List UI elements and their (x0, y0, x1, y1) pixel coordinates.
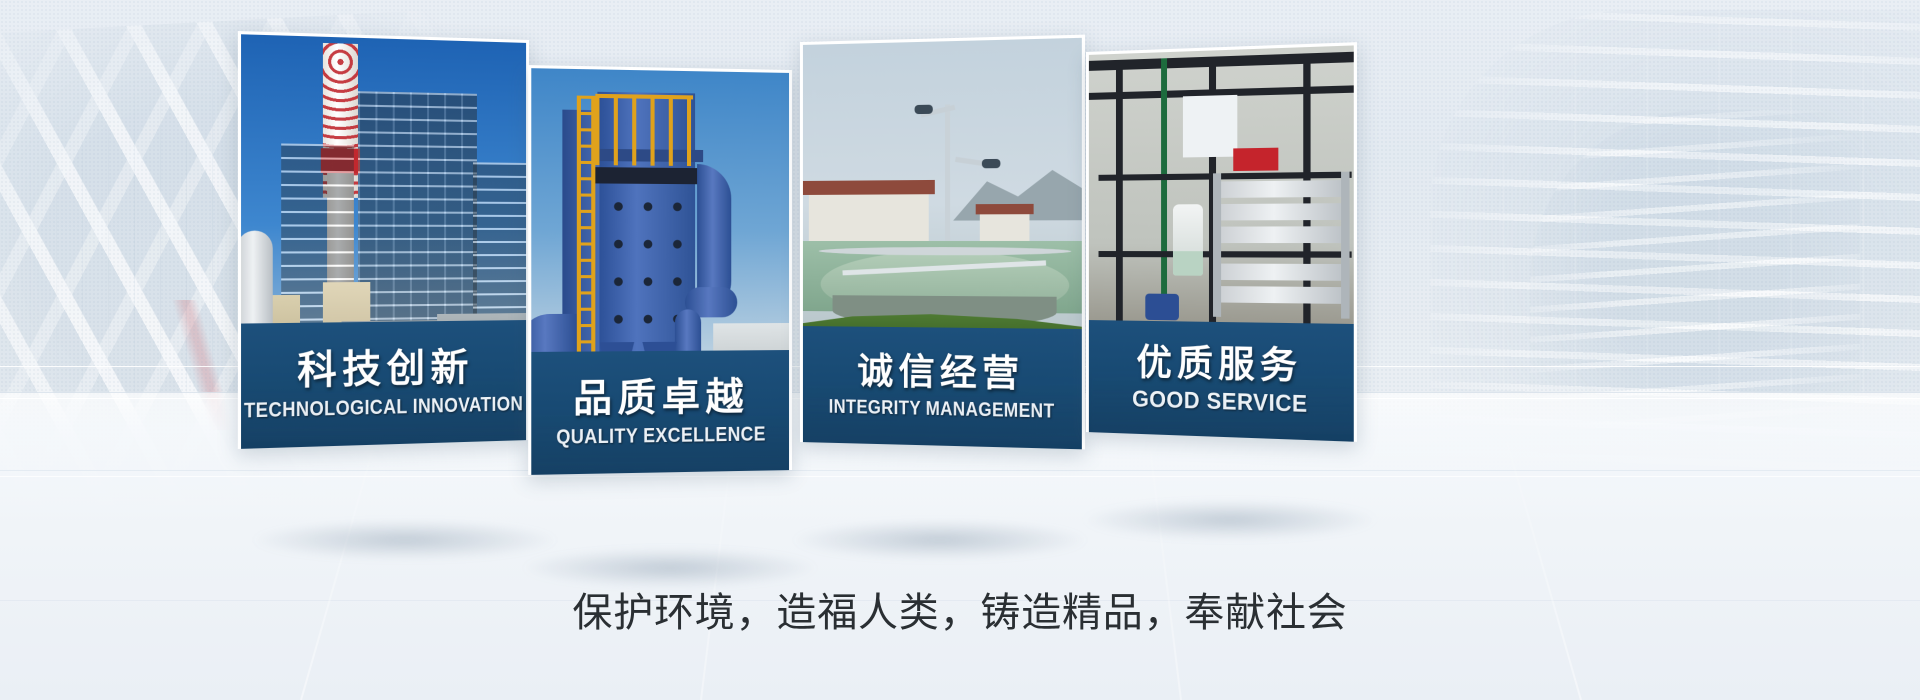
panel-shadow (790, 520, 1090, 560)
panel-title-en: QUALITY EXCELLENCE (556, 424, 766, 447)
panel-label-band-integrity-management: 诚信经营 INTEGRITY MANAGEMENT (803, 326, 1082, 449)
banner-stage: 科技创新 TECHNOLOGICAL INNOVATION (0, 0, 1920, 700)
banner-tagline: 保护环境，造福人类，铸造精品，奉献社会 (0, 580, 1920, 638)
panel-quality-excellence[interactable]: 品质卓越 QUALITY EXCELLENCE (528, 65, 792, 475)
panel-title-en: INTEGRITY MANAGEMENT (829, 397, 1055, 421)
background-floor-line-4 (0, 476, 1920, 477)
panel-shadow (1080, 500, 1380, 540)
panel-integrity-management[interactable]: 诚信经营 INTEGRITY MANAGEMENT (800, 35, 1085, 450)
background-floor-line-3 (0, 470, 1920, 471)
panel-label-band-quality-excellence: 品质卓越 QUALITY EXCELLENCE (531, 350, 789, 475)
panel-title-cn: 诚信经营 (857, 353, 1024, 392)
panel-title-en: TECHNOLOGICAL INNOVATION (244, 394, 523, 421)
panel-technological-innovation[interactable]: 科技创新 TECHNOLOGICAL INNOVATION (238, 31, 529, 449)
panel-good-service[interactable]: 优质服务 GOOD SERVICE (1086, 42, 1357, 442)
panel-title-cn: 优质服务 (1136, 344, 1302, 385)
panel-shadow (250, 520, 560, 560)
panel-title-en: GOOD SERVICE (1132, 387, 1307, 416)
panel-title-cn: 品质卓越 (573, 377, 749, 418)
panel-label-band-technological-innovation: 科技创新 TECHNOLOGICAL INNOVATION (241, 320, 526, 449)
panel-label-band-good-service: 优质服务 GOOD SERVICE (1089, 320, 1354, 442)
panel-title-cn: 科技创新 (297, 347, 473, 389)
